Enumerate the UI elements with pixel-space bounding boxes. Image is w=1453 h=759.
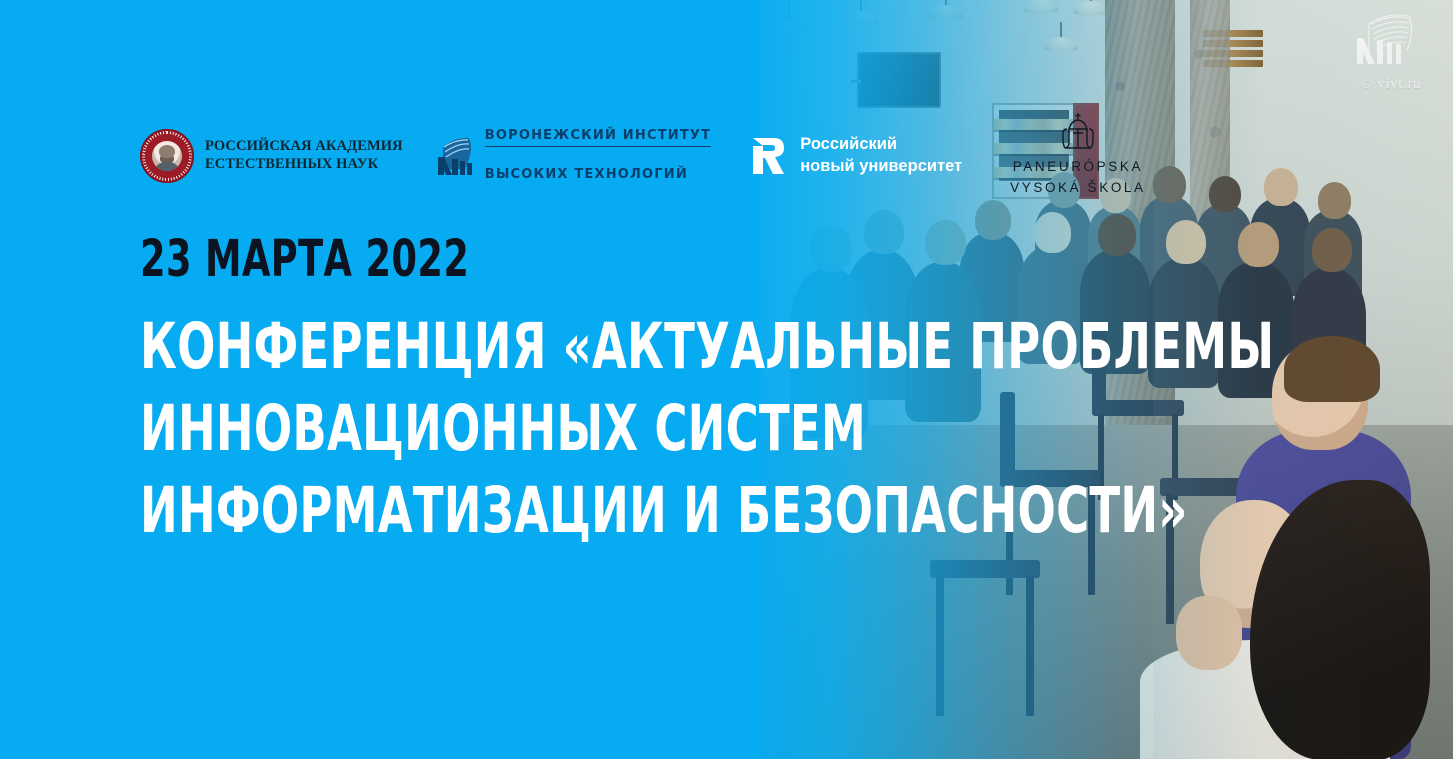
logo-rosnou-label: Российский новый университет	[800, 134, 962, 177]
headline-line-2: ИННОВАЦИОННЫХ СИСТЕМ	[140, 388, 1274, 470]
headline-line-1: КОНФЕРЕНЦИЯ «АКТУАЛЬНЫЕ ПРОБЛЕМЫ	[140, 306, 1274, 388]
event-date: 23 МАРТА 2022	[140, 230, 469, 289]
logo-rosnou[interactable]: Российский новый университет	[751, 134, 962, 177]
headline-line-3: ИНФОРМАТИЗАЦИИ И БЕЗОПАСНОСТИ»	[140, 470, 1274, 552]
rosnou-r-icon	[751, 136, 789, 176]
logo-paneuropska[interactable]: PANEURÓPSKA VYSOKÁ ŠKOLA	[1010, 112, 1146, 199]
logo-vivt-line1: ВОРОНЕЖСКИЙ ИНСТИТУТ	[485, 127, 711, 147]
logo-vivt-label: ВОРОНЕЖСКИЙ ИНСТИТУТ ВЫСОКИХ ТЕХНОЛОГИЙ	[485, 108, 711, 203]
raen-seal-icon	[140, 129, 194, 183]
logo-vivt[interactable]: ВОРОНЕЖСКИЙ ИНСТИТУТ ВЫСОКИХ ТЕХНОЛОГИЙ	[435, 108, 711, 203]
logo-paneuropska-label: PANEURÓPSKA VYSOKÁ ŠKOLA	[1010, 157, 1146, 199]
vivt-mark-icon	[435, 135, 479, 177]
logo-vivt-line2: ВЫСОКИХ ТЕХНОЛОГИЙ	[485, 166, 711, 185]
logo-raen-label: РОССИЙСКАЯ АКАДЕМИЯ ЕСТЕСТВЕННЫХ НАУК	[205, 138, 403, 173]
page-title: КОНФЕРЕНЦИЯ «АКТУАЛЬНЫЕ ПРОБЛЕМЫ ИННОВАЦ…	[140, 306, 1274, 552]
paneuropska-crown-icon	[1056, 112, 1100, 152]
partner-logo-bar: РОССИЙСКАЯ АКАДЕМИЯ ЕСТЕСТВЕННЫХ НАУК	[140, 108, 1146, 203]
logo-raen[interactable]: РОССИЙСКАЯ АКАДЕМИЯ ЕСТЕСТВЕННЫХ НАУК	[140, 129, 403, 183]
conference-poster: РОССИЙСКАЯ АКАДЕМИЯ ЕСТЕСТВЕННЫХ НАУК	[0, 0, 1453, 759]
